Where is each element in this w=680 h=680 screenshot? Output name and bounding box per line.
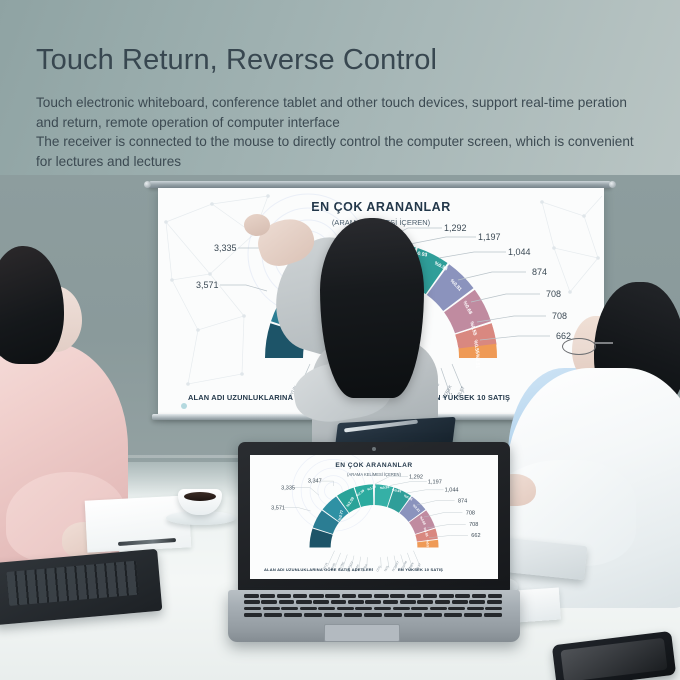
svg-text:662: 662 [471, 533, 480, 539]
svg-text:874: 874 [532, 267, 547, 277]
svg-text:1,197: 1,197 [478, 232, 501, 242]
svg-text:1,044: 1,044 [445, 487, 459, 493]
svg-text:1,197: 1,197 [428, 479, 442, 485]
svg-text:3,335: 3,335 [214, 243, 237, 253]
svg-text:3,571: 3,571 [196, 280, 219, 290]
presenter-hand [244, 214, 270, 236]
page-description: Touch electronic whiteboard, conference … [36, 93, 648, 171]
svg-text:708: 708 [466, 510, 475, 516]
chart-small-svg: %2.77 %2.59 %2.59 %1.00 %0.93 %0.93 %0.9… [250, 455, 498, 579]
presenter-hair [320, 218, 424, 398]
svg-text:708: 708 [469, 522, 478, 528]
svg-text:3,571: 3,571 [271, 505, 285, 511]
svg-text:1,292: 1,292 [409, 474, 423, 480]
description-paragraph-1: Touch electronic whiteboard, conference … [36, 93, 648, 132]
svg-text:3,347: 3,347 [308, 479, 322, 485]
attendee-left-hair [0, 246, 64, 364]
laptop[interactable]: EN ÇOK ARANANLAR (ARAMA KELİMESİ İÇEREN) [228, 442, 520, 652]
eyeglasses-icon [562, 338, 596, 355]
projector-screen-rail [148, 181, 612, 188]
laptop-trackpad[interactable] [324, 624, 400, 642]
svg-text:874: 874 [458, 498, 467, 504]
svg-text:%0.51: %0.51 [425, 540, 430, 550]
svg-text:OTEL: OTEL [375, 564, 382, 573]
description-paragraph-2: The receiver is connected to the mouse t… [36, 132, 648, 171]
laptop-keyboard[interactable] [244, 594, 504, 622]
svg-text:1,044: 1,044 [508, 247, 531, 257]
svg-text:TATİL: TATİL [382, 564, 390, 573]
chart-small-footer-left: ALAN ADI UZUNLUKLARINA GÖRE SATIŞ ADETLE… [264, 567, 373, 572]
chart-small: EN ÇOK ARANANLAR (ARAMA KELİMESİ İÇEREN) [250, 455, 498, 579]
svg-text:3,335: 3,335 [281, 485, 295, 491]
webcam-icon [372, 447, 376, 451]
page-title: Touch Return, Reverse Control [36, 44, 437, 77]
chart-small-footer-right: EN YÜKSEK 10 SATIŞ [398, 567, 443, 572]
slide-canvas: Touch Return, Reverse Control Touch elec… [0, 0, 680, 680]
laptop-lid: EN ÇOK ARANANLAR (ARAMA KELİMESİ İÇEREN) [238, 442, 510, 592]
laptop-screen[interactable]: EN ÇOK ARANANLAR (ARAMA KELİMESİ İÇEREN) [250, 455, 498, 579]
